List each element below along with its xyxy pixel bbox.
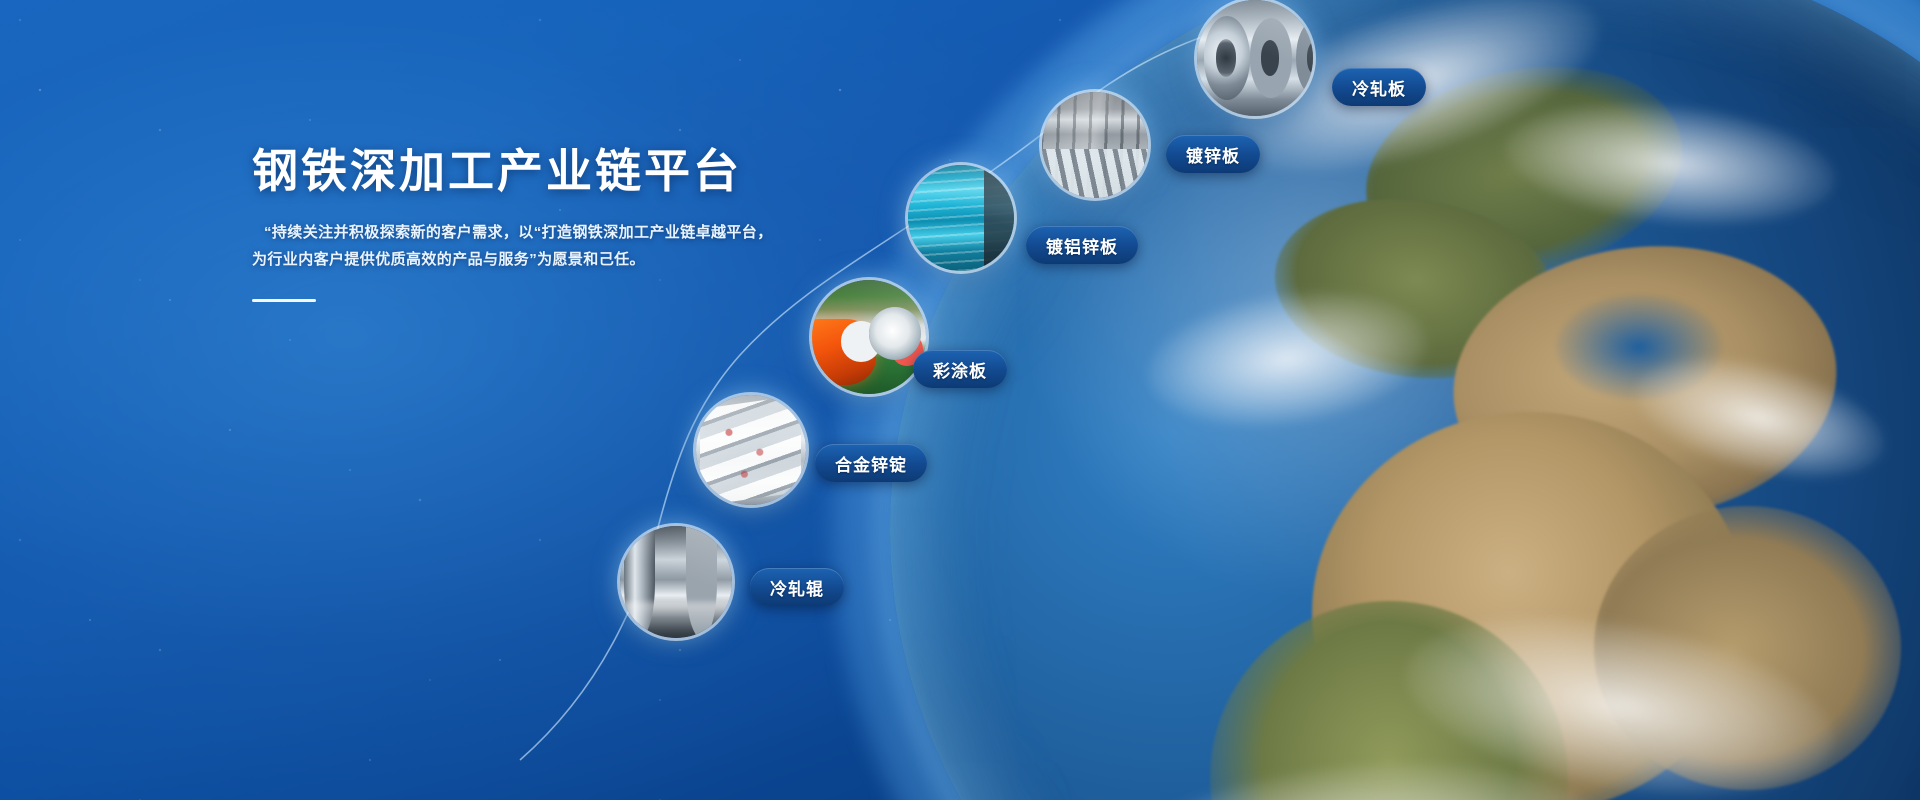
hero-copy: 钢铁深加工产业链平台 “持续关注并积极探索新的客户需求，以“打造钢铁深加工产业链…: [252, 144, 812, 302]
rolling-roll-photo[interactable]: [620, 526, 732, 638]
zinc-ingot-stack-photo[interactable]: [696, 395, 806, 505]
hero-subtitle: “持续关注并积极探索新的客户需求，以“打造钢铁深加工产业链卓越平台， 为行业内客…: [252, 220, 812, 273]
color-coated-coil-photo[interactable]: [812, 280, 926, 394]
subtitle-line-1: “持续关注并积极探索新的客户需求，以“打造钢铁深加工产业链卓越平台，: [252, 220, 812, 246]
product-label-zinc-alloy-ingot[interactable]: 合金锌锭: [815, 444, 927, 482]
product-label-cold-rolling-roll[interactable]: 冷轧辊: [750, 568, 844, 606]
product-label-cold-rolled-sheet[interactable]: 冷轧板: [1332, 68, 1426, 106]
page-title: 钢铁深加工产业链平台: [252, 144, 812, 198]
coil-warehouse-photo[interactable]: [1042, 92, 1148, 198]
product-label-galvalume-sheet[interactable]: 镀铝锌板: [1026, 226, 1138, 264]
subtitle-line-2: 为行业内客户提供优质高效的产品与服务”为愿景和己任。: [252, 247, 812, 273]
galvalume-coil-photo[interactable]: [908, 165, 1014, 271]
product-label-color-coated-sheet[interactable]: 彩涂板: [913, 350, 1007, 388]
hero-banner: 钢铁深加工产业链平台 “持续关注并积极探索新的客户需求，以“打造钢铁深加工产业链…: [0, 0, 1920, 800]
product-label-galvanized-sheet[interactable]: 镀锌板: [1166, 135, 1260, 173]
title-underline-rule: [252, 299, 316, 302]
steel-coil-photo[interactable]: [1197, 0, 1313, 116]
